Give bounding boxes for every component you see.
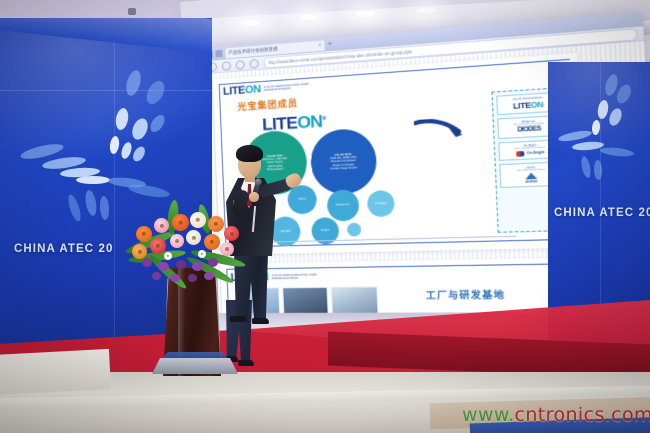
flower-orchid [188,274,197,282]
watermark-domain: cntronics.com [515,404,650,426]
browser-tab-title: 产品技术研讨会视频直播 [228,46,278,56]
ceiling-spotlight [352,9,378,18]
flower-rose [186,230,201,245]
petal-shape [76,176,110,184]
flower-orchid [170,274,180,282]
pointer-arrow-icon [414,117,464,143]
backdrop-text-right: CHINA ATEC 2018 [554,207,650,219]
petal-shape [84,189,98,216]
back-icon[interactable] [215,50,222,58]
flower-gerbera [208,216,224,232]
flower-orchid [192,262,203,271]
flower-orchid [152,272,161,280]
liteon-subtitle: LITE-ON SEMICONDUCTOR CORP. DISCRETE DIV… [271,271,317,280]
flower-bud [198,250,206,258]
flower-gerbera [150,238,166,254]
ceiling-spotlight [238,18,264,27]
flower-gerbera [154,218,169,233]
watermark-prefix: www. [462,404,515,426]
flower-arrangement [128,196,244,282]
onbright-mark-icon [516,151,524,157]
podium-base [152,358,238,374]
second-person-shoe [238,360,254,366]
flower-gerbera [224,226,239,241]
petal-shape [66,193,83,222]
liteon-subtitle-line2: DISCRETE DIVISION [272,277,318,281]
flower-gerbera [172,214,189,231]
watermark: www.cntronics.com [462,401,648,429]
flower-orchid [204,272,214,280]
flower-orchid [142,258,152,267]
speaker-shoe [230,316,247,322]
flower-gerbera [220,242,234,256]
flower-gerbera [170,234,184,248]
flower-orchid [158,262,169,271]
speaker-shoe [252,318,269,324]
bubble-on-bright: On Bright [367,190,395,217]
flower-orchid [176,260,186,269]
bubble-lite-on-semi: Lite-On Semi 2016 Rev. 266M USD Discrete… [310,128,378,196]
liteon-subtitle: LITE-ON SEMICONDUCTOR CORP. DISCRETE DIV… [263,81,309,93]
backdrop-text-left: CHINA ATEC 20 [14,243,114,255]
facility-photo [282,287,329,313]
forward-arrow-icon[interactable] [222,61,231,71]
home-icon[interactable] [249,58,258,68]
slide2-headline-cn: 工厂与研发基地 [426,287,506,302]
close-icon[interactable]: × [318,42,321,48]
backdrop-seam [0,90,212,91]
speaker-hair [236,145,263,162]
bubble-diodes-inc: Diodes Inc. [327,189,360,221]
speaker-right-hand [249,192,259,202]
new-tab-icon[interactable]: + [328,40,333,49]
ceiling-sensor-icon [128,8,136,15]
bubble-misc: ... [347,223,361,237]
flower-rose [190,212,206,228]
conference-photo-scene: 产品技术研讨会视频直播 × + http://www.liteon-semi.c… [0,0,650,433]
flower-bud [164,252,172,260]
petal-shape [99,196,110,221]
floor-white-band [0,349,111,395]
flower-gerbera [204,234,220,250]
flower-gerbera [136,226,152,242]
flower-gerbera [132,244,147,259]
ceiling-spotlight [414,6,440,15]
facility-photo [331,286,379,313]
ceiling-spotlight [296,13,322,22]
flower-orchid [208,258,218,267]
reload-icon[interactable] [236,60,245,70]
